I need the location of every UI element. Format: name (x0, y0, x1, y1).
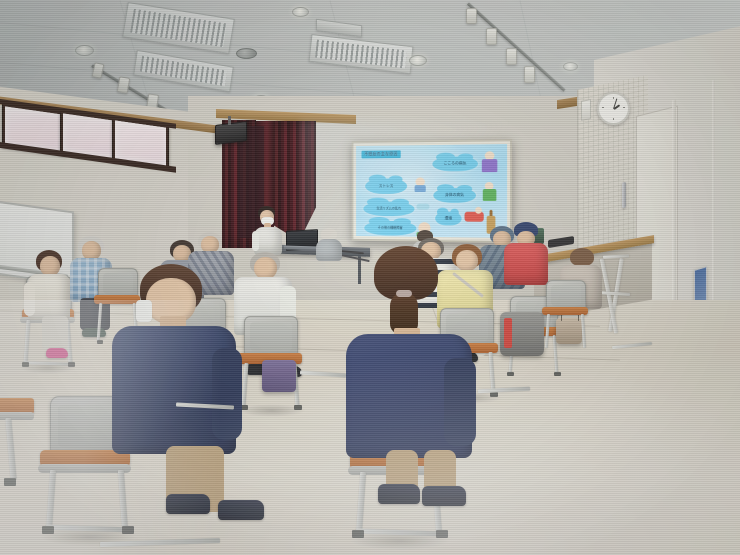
slide-illustration-noise (465, 206, 486, 224)
light-switch[interactable] (581, 99, 591, 121)
shoe (422, 486, 466, 506)
slide-surface: 不眠症の主な原因 ストレス 生活リズムの乱れ その他の睡眠障害 こころの病気 身… (356, 144, 507, 238)
attendee-navy-polo-front (112, 264, 242, 524)
face-mask (136, 300, 152, 322)
shoe (218, 500, 264, 520)
wall-speaker (215, 121, 247, 145)
slide-cloud-environment: 環境 (435, 212, 462, 226)
speaker-bracket (228, 116, 231, 125)
slide-cloud-stress: ストレス (365, 178, 407, 194)
slide-title: 不眠症の主な原因 (362, 150, 401, 158)
shoe (378, 484, 420, 504)
chair[interactable] (540, 280, 590, 358)
chair[interactable] (0, 398, 38, 518)
wall-clock (597, 92, 630, 125)
slide-illustration-zzz (416, 200, 431, 212)
slide-cloud-rhythm: 生活リズムの乱れ (363, 202, 414, 217)
attendee-navy-ponytail (346, 246, 476, 508)
seminar-room-photo: 不眠症の主な原因 ストレス 生活リズムの乱れ その他の睡眠障害 こころの病気 身… (0, 0, 740, 555)
presenter (252, 206, 286, 254)
door-handle[interactable] (622, 182, 626, 209)
shoe (166, 494, 210, 514)
slide-cloud-physical: 身体の病気 (433, 188, 476, 203)
slide-cloud-mental: こころの病気 (432, 156, 478, 171)
slide-illustration-person-green (481, 181, 498, 201)
hair-tie (396, 290, 412, 297)
purple-tote[interactable] (262, 360, 296, 392)
shoe (46, 348, 68, 358)
slide-cloud-other: その他の睡眠障害 (364, 221, 416, 236)
slide-illustration-child (480, 150, 499, 172)
backpack-strap (504, 318, 512, 348)
slide-illustration-sleepless (413, 174, 428, 192)
attendee-far-row (316, 228, 342, 260)
